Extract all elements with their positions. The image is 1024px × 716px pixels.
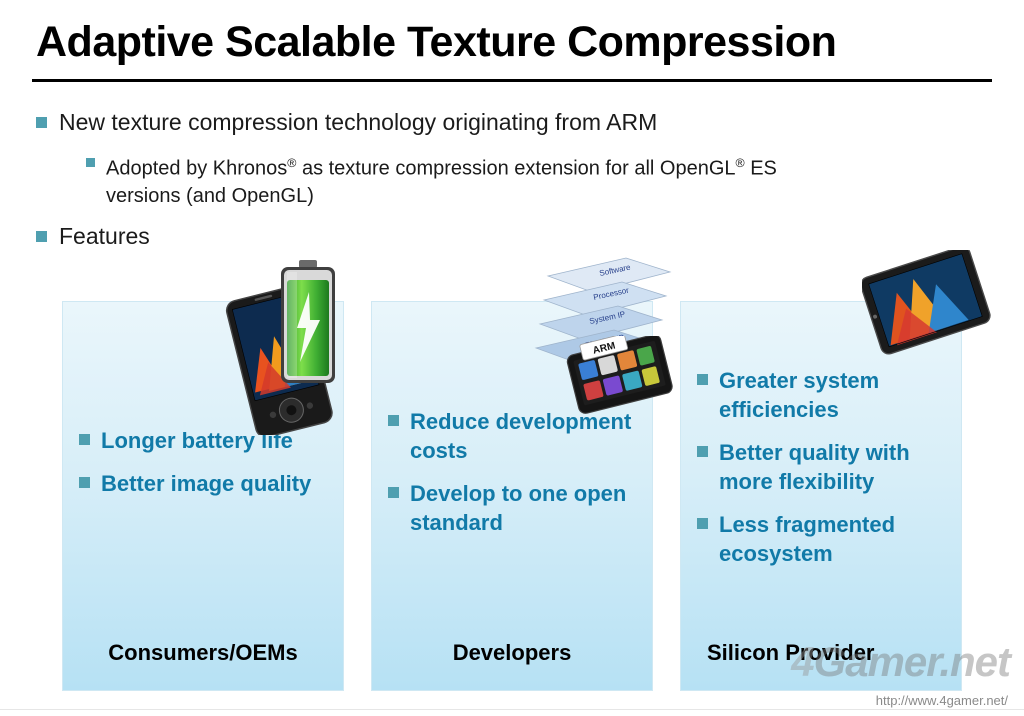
sub-bullet-part-1: Adopted by Khronos	[106, 158, 287, 180]
panel-developers-label: Developers	[372, 640, 652, 666]
panel-consumers-bullets: Longer battery life Better image quality	[79, 426, 331, 512]
panel-bullet-text: Greater system efficiencies	[719, 366, 949, 424]
smartphone-image-2: ARM	[566, 336, 674, 414]
panel-developers-bullets: Reduce development costs Develop to one …	[388, 407, 640, 551]
bullet-square-icon	[79, 434, 90, 445]
bullet-square-icon	[79, 477, 90, 488]
battery-image	[275, 258, 341, 386]
sub-bullet-part-2: as texture compression extension for all…	[296, 158, 735, 180]
bullet-square-icon	[697, 518, 708, 529]
bullet-text: New texture compression technology origi…	[59, 108, 657, 137]
panel-silicon-label: Silicon Provider	[681, 640, 961, 666]
list-item: Less fragmented ecosystem	[697, 510, 949, 568]
bullet-level1-1: New texture compression technology origi…	[36, 108, 657, 137]
panel-bullet-text: Develop to one open standard	[410, 479, 640, 537]
bullet-square-icon	[388, 415, 399, 426]
panel-bullet-text: Better quality with more flexibility	[719, 438, 949, 496]
watermark-url: http://www.4gamer.net/	[876, 693, 1008, 708]
list-item: Greater system efficiencies	[697, 366, 949, 424]
bullet-square-icon	[697, 446, 708, 457]
title-divider	[32, 79, 992, 82]
bullet-square-icon	[36, 231, 47, 242]
bullet-text: Features	[59, 222, 150, 251]
panel-consumers-label: Consumers/OEMs	[63, 640, 343, 666]
bullet-square-icon	[388, 487, 399, 498]
panel-bullet-text: Reduce development costs	[410, 407, 640, 465]
tablet-image	[862, 250, 992, 360]
slide-bottom-edge	[0, 709, 1024, 716]
panel-silicon-bullets: Greater system efficiencies Better quali…	[697, 366, 949, 582]
page-title: Adaptive Scalable Texture Compression	[36, 18, 836, 67]
panel-bullet-text: Better image quality	[101, 469, 311, 498]
list-item: Reduce development costs	[388, 407, 640, 465]
bullet-square-icon	[36, 117, 47, 128]
panel-bullet-text: Less fragmented ecosystem	[719, 510, 949, 568]
list-item: Better quality with more flexibility	[697, 438, 949, 496]
bullet-level1-2: Features	[36, 222, 150, 251]
bullet-level2-1: Adopted by Khronos® as texture compressi…	[86, 150, 826, 210]
bullet-square-icon	[86, 158, 95, 167]
bullet-text-sub: Adopted by Khronos® as texture compressi…	[106, 150, 826, 210]
list-item: Develop to one open standard	[388, 479, 640, 537]
bullet-square-icon	[697, 374, 708, 385]
list-item: Better image quality	[79, 469, 331, 498]
registered-mark-icon-2: ®	[736, 156, 745, 170]
